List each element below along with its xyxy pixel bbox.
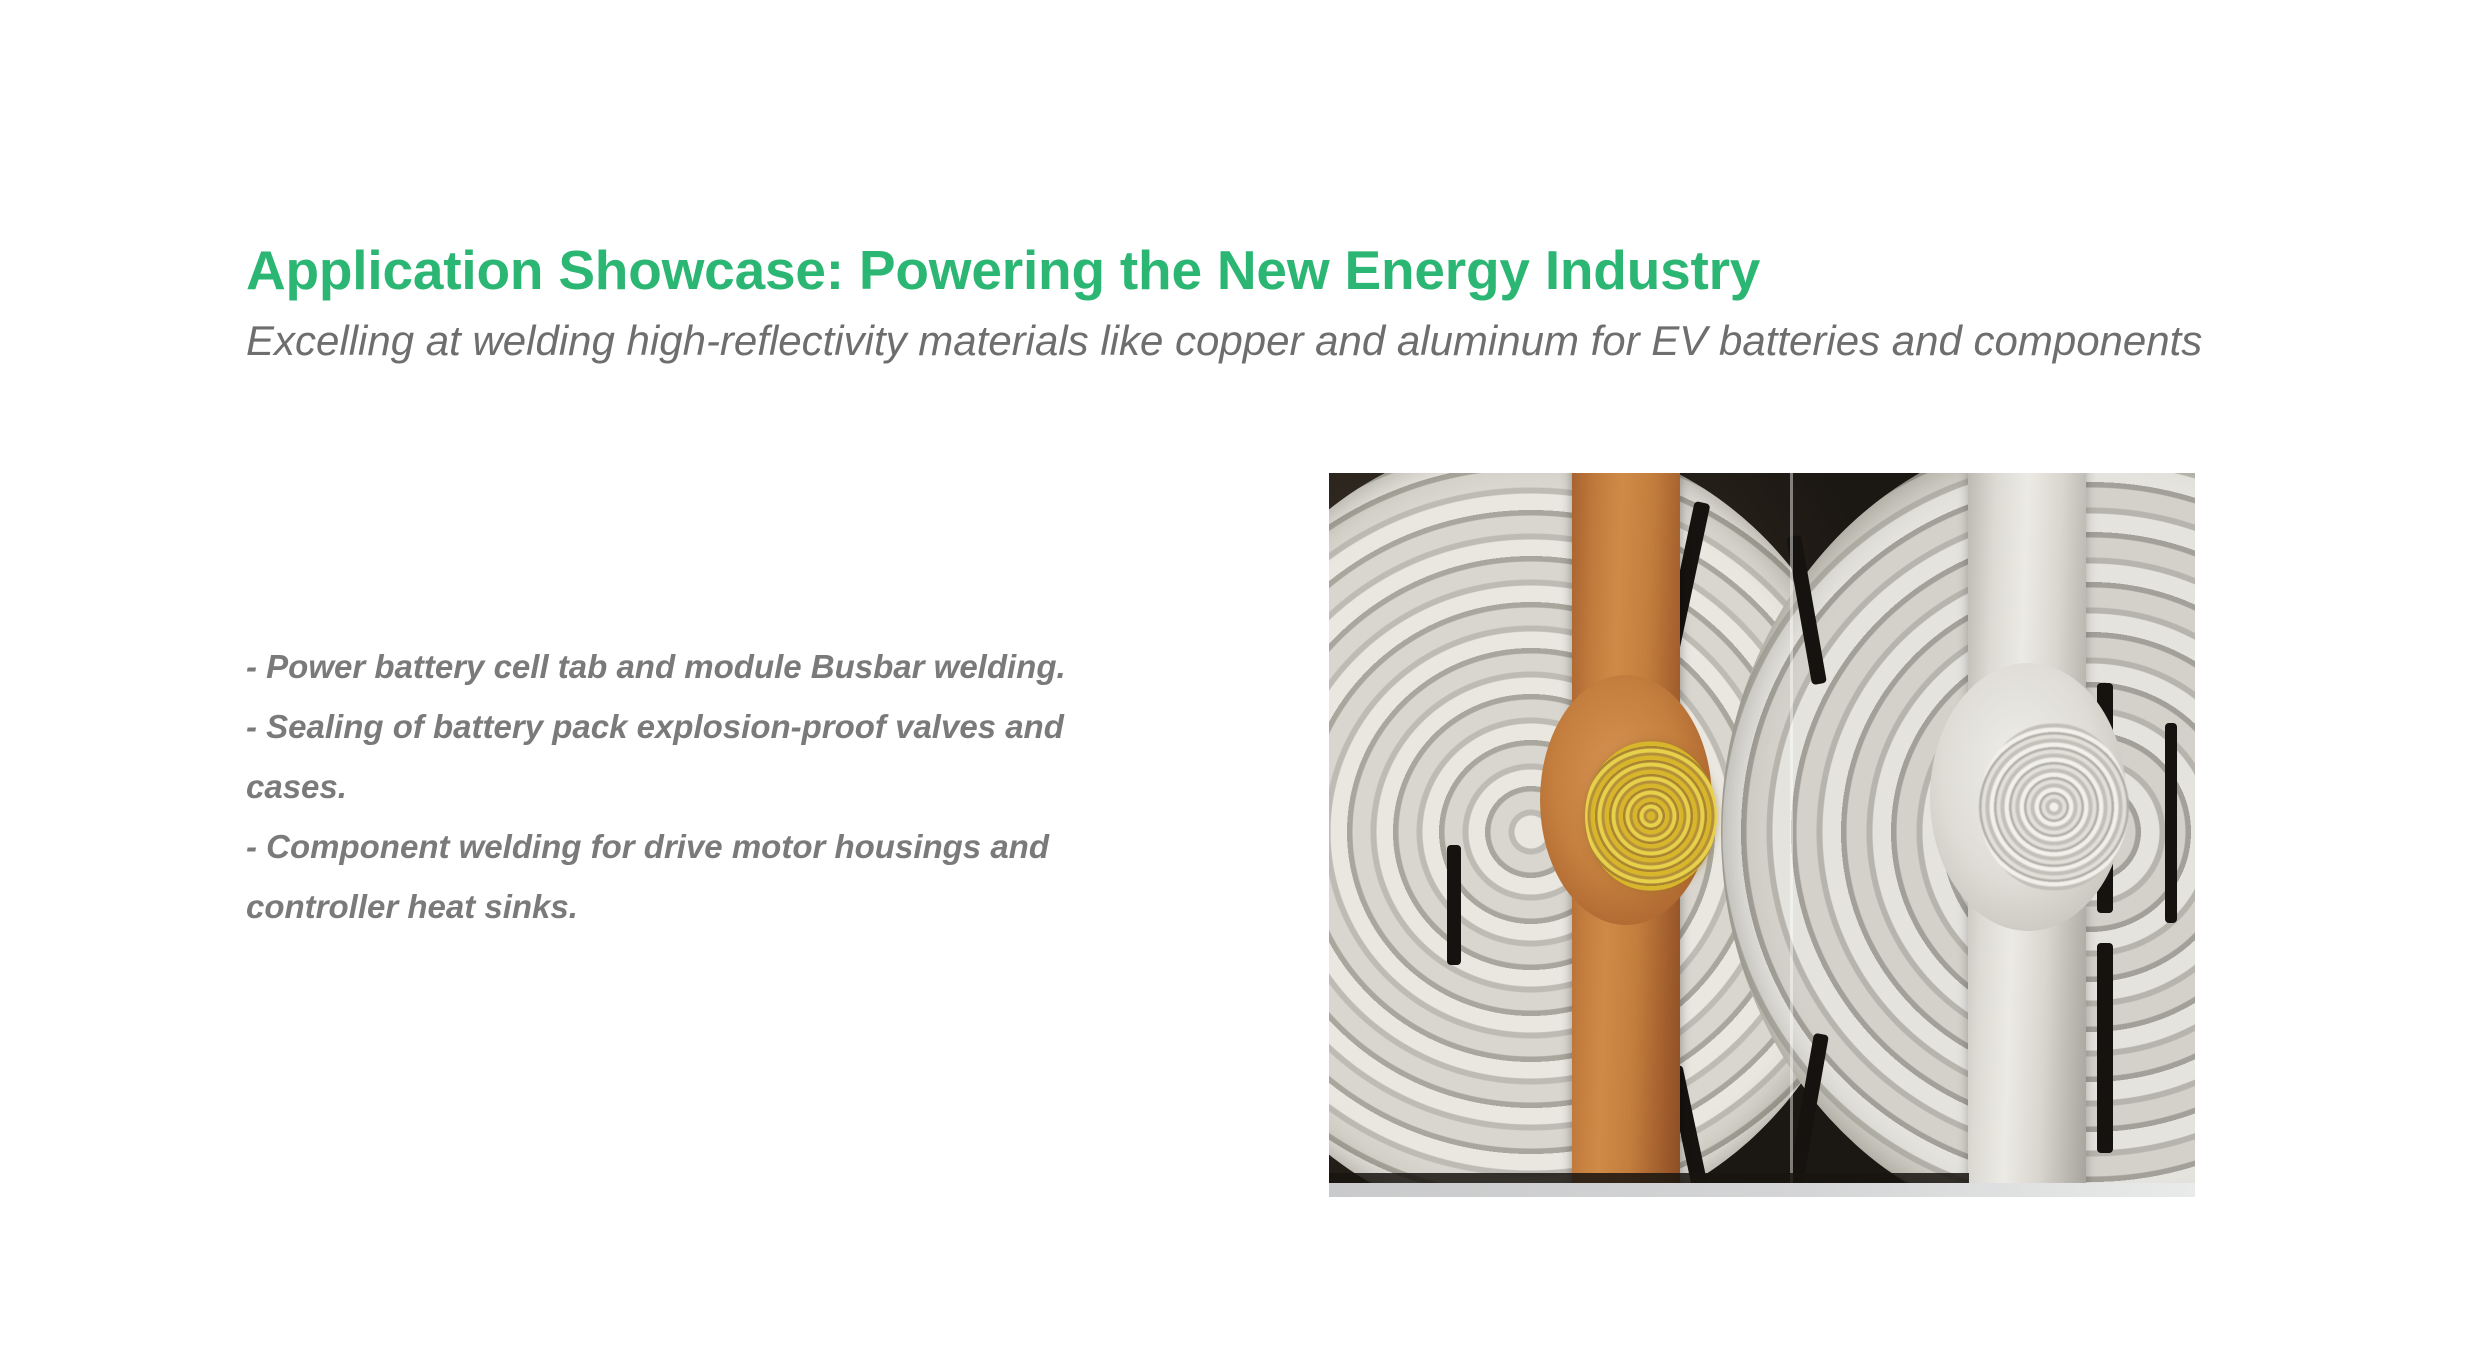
list-item: - Sealing of battery pack explosion-proo… — [246, 697, 1146, 757]
copper-spiral-weld — [1585, 741, 1717, 891]
cell-slot — [2165, 723, 2177, 923]
photo-bottom-shadow — [1329, 1173, 1969, 1183]
cell-slot — [2097, 943, 2113, 1153]
list-item: cases. — [246, 757, 1146, 817]
photo-seam — [1790, 473, 1793, 1197]
list-item: - Power battery cell tab and module Busb… — [246, 637, 1146, 697]
heading-block: Application Showcase: Powering the New E… — [246, 240, 2256, 367]
aluminum-spiral-weld — [1979, 723, 2129, 891]
list-item: controller heat sinks. — [246, 877, 1146, 937]
cell-slot — [1447, 845, 1461, 965]
bullet-list: - Power battery cell tab and module Busb… — [246, 637, 1146, 937]
page-title: Application Showcase: Powering the New E… — [246, 240, 2256, 301]
photo-bottom-strip — [1329, 1183, 2195, 1197]
page-subtitle: Excelling at welding high-reflectivity m… — [246, 315, 2256, 368]
battery-weld-photo — [1329, 473, 2195, 1197]
photo-inner — [1329, 473, 2195, 1197]
slide-canvas: Application Showcase: Powering the New E… — [0, 0, 2481, 1363]
list-item: - Component welding for drive motor hous… — [246, 817, 1146, 877]
